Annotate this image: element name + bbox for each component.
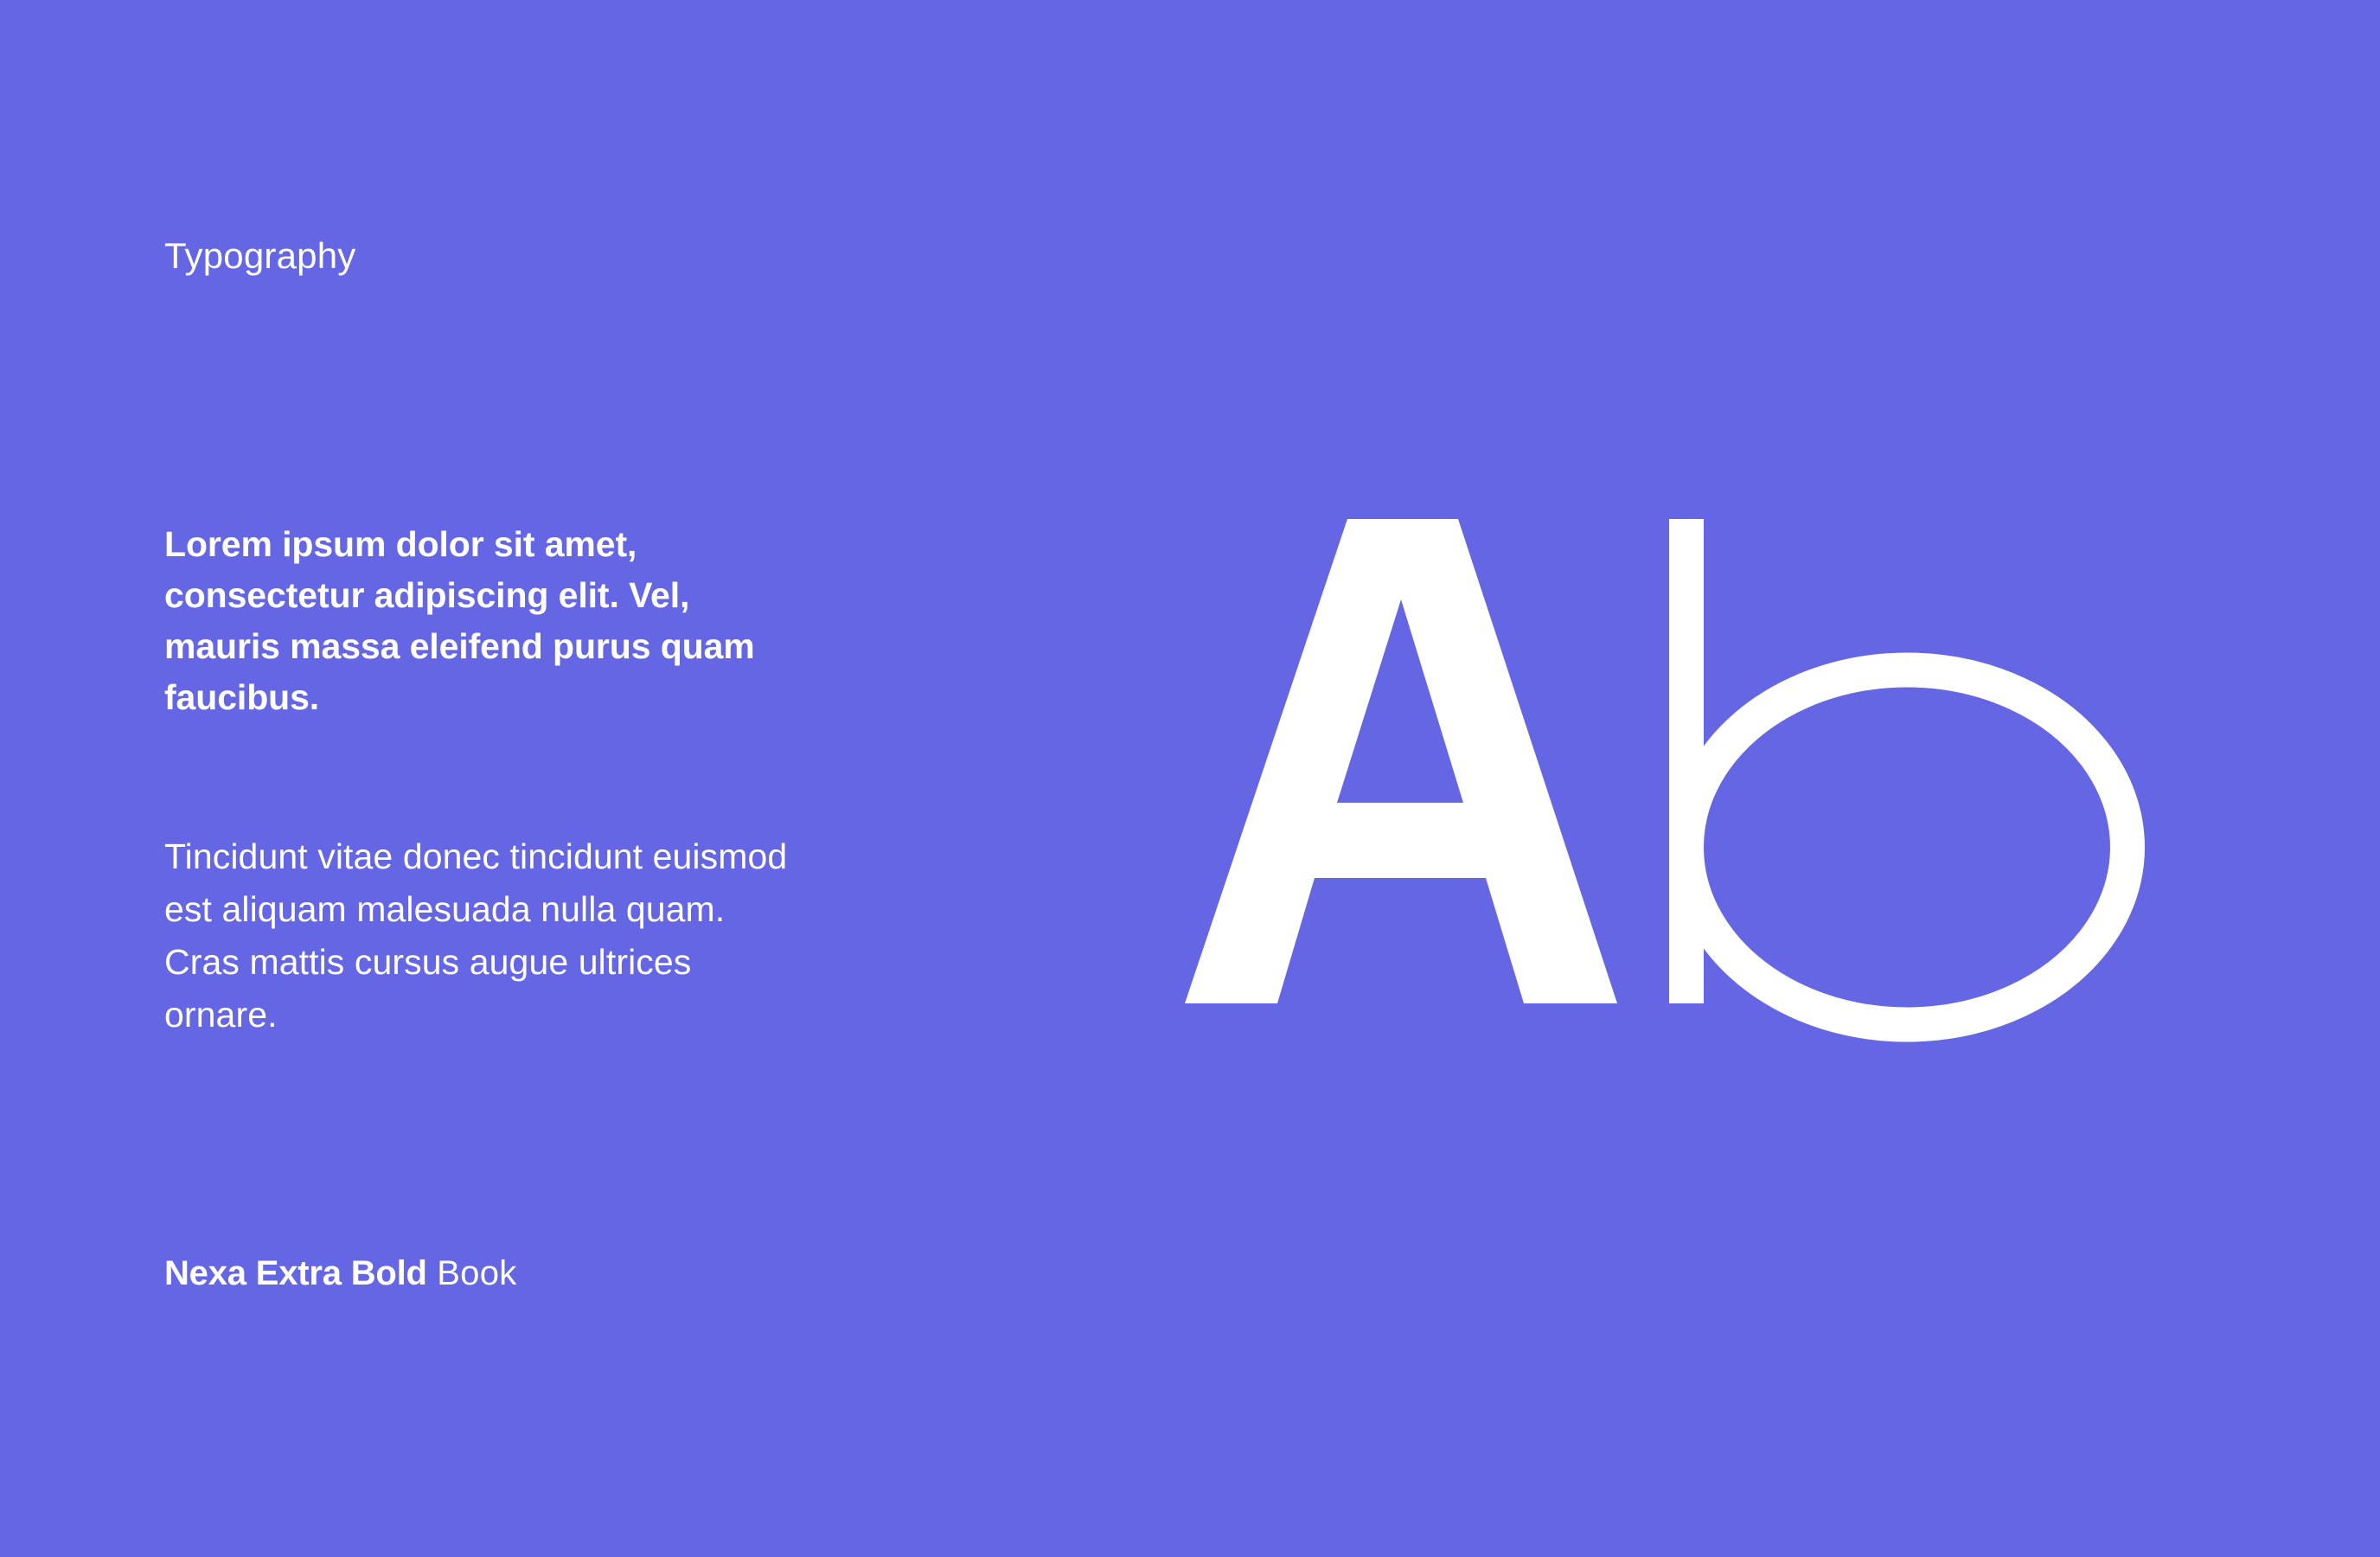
glyph-uppercase-a xyxy=(1185,519,1617,1003)
font-caption-regular-name xyxy=(427,1254,437,1292)
font-caption-regular-label: Book xyxy=(437,1254,516,1292)
glyph-lowercase-b-bowl xyxy=(1686,670,2127,1025)
text-column: Typography Lorem ipsum dolor sit amet, c… xyxy=(164,0,873,1557)
font-caption: Nexa Extra Bold Book xyxy=(164,1253,517,1294)
font-caption-bold-name: Nexa Extra Bold xyxy=(164,1254,427,1292)
section-label: Typography xyxy=(164,235,355,277)
lead-paragraph: Lorem ipsum dolor sit amet, consectetur … xyxy=(164,519,770,723)
specimen-svg xyxy=(1150,484,2188,1038)
body-paragraph: Tincidunt vitae donec tincidunt euismod … xyxy=(164,830,796,1041)
typeface-specimen xyxy=(1150,484,2188,1038)
typography-slide: Typography Lorem ipsum dolor sit amet, c… xyxy=(0,0,2380,1557)
